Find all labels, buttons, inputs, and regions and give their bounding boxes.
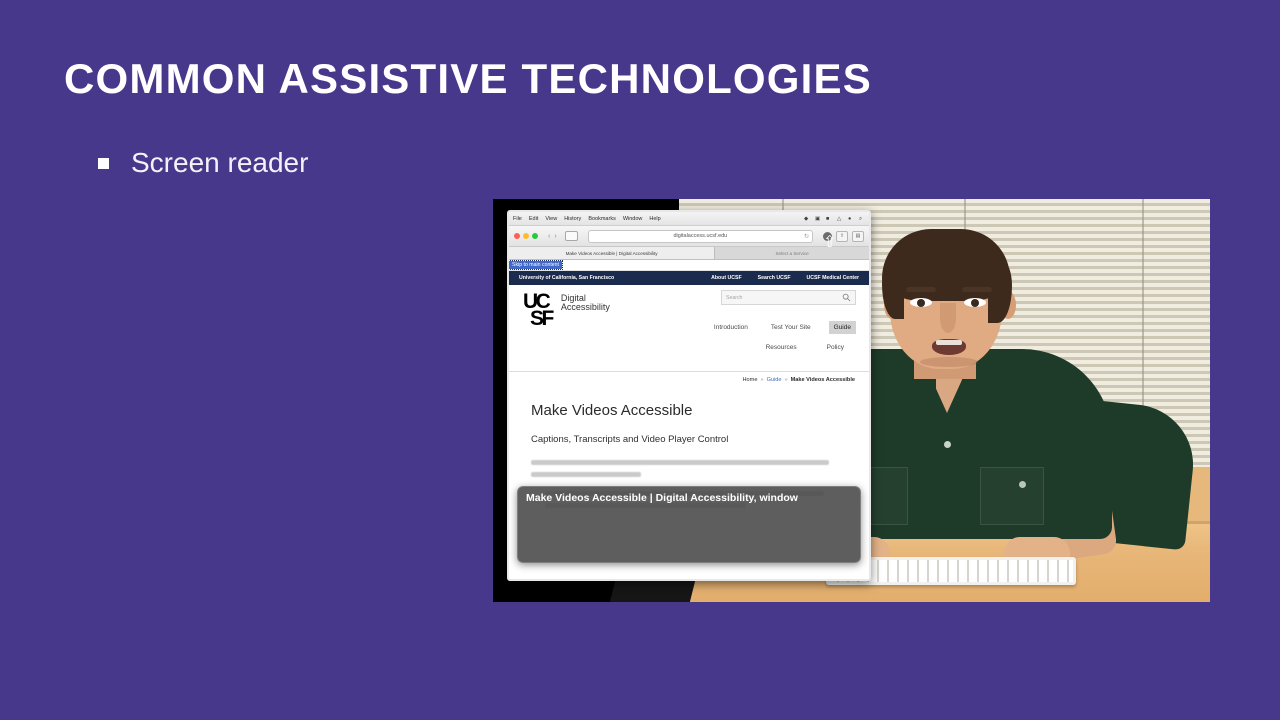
nav-item-guide[interactable]: Guide: [829, 321, 856, 334]
body-text-line: [531, 472, 641, 477]
mac-menu-status-icons[interactable]: ◆ ▣ ■ △ ● ⌕: [804, 216, 865, 222]
skip-link-row: Skip to main content: [509, 260, 869, 271]
nav-item-policy[interactable]: Policy: [822, 341, 849, 354]
breadcrumb-guide[interactable]: Guide: [767, 377, 782, 383]
browser-tab-bar[interactable]: Make Videos Accessible | Digital Accessi…: [509, 247, 869, 260]
share-icon[interactable]: ⇧: [823, 232, 832, 241]
search-placeholder: Search: [726, 295, 742, 301]
search-input[interactable]: Search: [721, 290, 856, 305]
tab-select-a-service[interactable]: Select a Service: [715, 247, 869, 259]
menu-item-edit[interactable]: Edit: [529, 216, 538, 222]
eyebrow-left: [906, 287, 936, 292]
breadcrumb[interactable]: Home » Guide » Make Videos Accessible: [509, 371, 869, 388]
safari-browser-window[interactable]: File Edit View History Bookmarks Window …: [507, 210, 871, 581]
menu-item-window[interactable]: Window: [623, 216, 643, 222]
upload-icon[interactable]: ⇧: [836, 231, 848, 242]
close-icon[interactable]: [514, 233, 520, 239]
url-text: digitalaccess.ucsf.edu: [673, 233, 727, 239]
sidebar-icon[interactable]: [565, 231, 578, 241]
url-address-bar[interactable]: digitalaccess.ucsf.edu ↻: [588, 230, 813, 243]
bluetooth-icon[interactable]: ◆: [804, 216, 810, 222]
wifi-icon[interactable]: △: [837, 216, 843, 222]
breadcrumb-current: Make Videos Accessible: [791, 377, 855, 383]
page-title: COMMON ASSISTIVE TECHNOLOGIES: [64, 55, 872, 103]
safari-toolbar[interactable]: ‹ › digitalaccess.ucsf.edu ↻ ⇧ ⇧ ▤: [509, 226, 869, 247]
menu-item-view[interactable]: View: [545, 216, 557, 222]
voiceover-caption-text: Make Videos Accessible | Digital Accessi…: [526, 492, 852, 505]
mac-menu-items[interactable]: File Edit View History Bookmarks Window …: [513, 216, 661, 222]
forward-button[interactable]: ›: [554, 233, 556, 240]
page-content: Make Videos Accessible Captions, Transcr…: [509, 388, 869, 581]
content-heading: Make Videos Accessible: [531, 402, 855, 419]
shirt-button: [944, 441, 951, 448]
ucsf-logo[interactable]: UC SF: [523, 293, 552, 327]
ucsf-logo-line2: SF: [530, 310, 552, 327]
voiceover-icon[interactable]: ▣: [815, 216, 821, 222]
menu-item-help[interactable]: Help: [649, 216, 660, 222]
eye-left: [910, 298, 932, 307]
ucsf-global-nav-links[interactable]: About UCSF Search UCSF UCSF Medical Cent…: [711, 275, 859, 281]
video-content: File Edit View History Bookmarks Window …: [493, 199, 1210, 602]
menu-item-bookmarks[interactable]: Bookmarks: [588, 216, 616, 222]
bullet-item-label: Screen reader: [131, 147, 308, 179]
brand-sub-line2: Accessibility: [561, 303, 610, 312]
site-nav-row-2[interactable]: Resources Policy: [761, 341, 849, 354]
mac-menu-bar[interactable]: File Edit View History Bookmarks Window …: [509, 212, 869, 226]
nose: [940, 303, 956, 333]
pupil-right: [971, 299, 979, 307]
maximize-icon[interactable]: [532, 233, 538, 239]
pocket-button-right: [1019, 481, 1026, 488]
battery-icon[interactable]: ■: [826, 216, 832, 222]
minimize-icon[interactable]: [523, 233, 529, 239]
body-text-line: [531, 460, 829, 465]
menu-item-history[interactable]: History: [564, 216, 581, 222]
ucsf-global-nav-brand[interactable]: University of California, San Francisco: [519, 275, 614, 281]
chin-shadow: [920, 357, 978, 367]
eye-right: [964, 298, 986, 307]
nav-item-resources[interactable]: Resources: [761, 341, 802, 354]
ucsf-global-nav[interactable]: University of California, San Francisco …: [509, 271, 869, 285]
site-header: UC SF Digital Accessibility Search: [509, 285, 869, 371]
search-icon[interactable]: [842, 289, 851, 307]
voiceover-caption-panel: Make Videos Accessible | Digital Accessi…: [517, 486, 861, 563]
menu-item-file[interactable]: File: [513, 216, 522, 222]
back-button[interactable]: ‹: [548, 233, 550, 240]
window-controls[interactable]: [514, 233, 538, 239]
screen-reader-demonstration-video[interactable]: File Edit View History Bookmarks Window …: [493, 199, 1210, 602]
pupil-left: [917, 299, 925, 307]
breadcrumb-separator: »: [760, 377, 763, 383]
reload-icon[interactable]: ↻: [804, 233, 809, 240]
eyebrow-right: [962, 287, 992, 292]
nav-item-introduction[interactable]: Introduction: [709, 321, 753, 334]
show-tabs-icon[interactable]: ▤: [852, 231, 864, 242]
breadcrumb-home[interactable]: Home: [743, 377, 758, 383]
site-brand-subtitle[interactable]: Digital Accessibility: [561, 293, 610, 313]
bullet-list-item: Screen reader: [98, 147, 308, 179]
nav-link-ucsf-medical-center[interactable]: UCSF Medical Center: [807, 275, 859, 281]
nav-item-test-your-site[interactable]: Test Your Site: [766, 321, 816, 334]
square-bullet-icon: [98, 158, 109, 169]
content-subheading: Captions, Transcripts and Video Player C…: [531, 434, 831, 447]
skip-to-main-content-link[interactable]: Skip to main content: [509, 261, 562, 269]
spotlight-icon[interactable]: ⌕: [859, 216, 865, 222]
tab-make-videos-accessible[interactable]: Make Videos Accessible | Digital Accessi…: [509, 247, 715, 259]
teeth: [936, 340, 962, 345]
nav-link-search-ucsf[interactable]: Search UCSF: [758, 275, 791, 281]
nav-link-about-ucsf[interactable]: About UCSF: [711, 275, 742, 281]
breadcrumb-separator: »: [785, 377, 788, 383]
shirt-pocket-right: [980, 467, 1044, 525]
clock-icon[interactable]: ●: [848, 216, 854, 222]
site-nav-row-1[interactable]: Introduction Test Your Site Guide: [709, 321, 856, 334]
